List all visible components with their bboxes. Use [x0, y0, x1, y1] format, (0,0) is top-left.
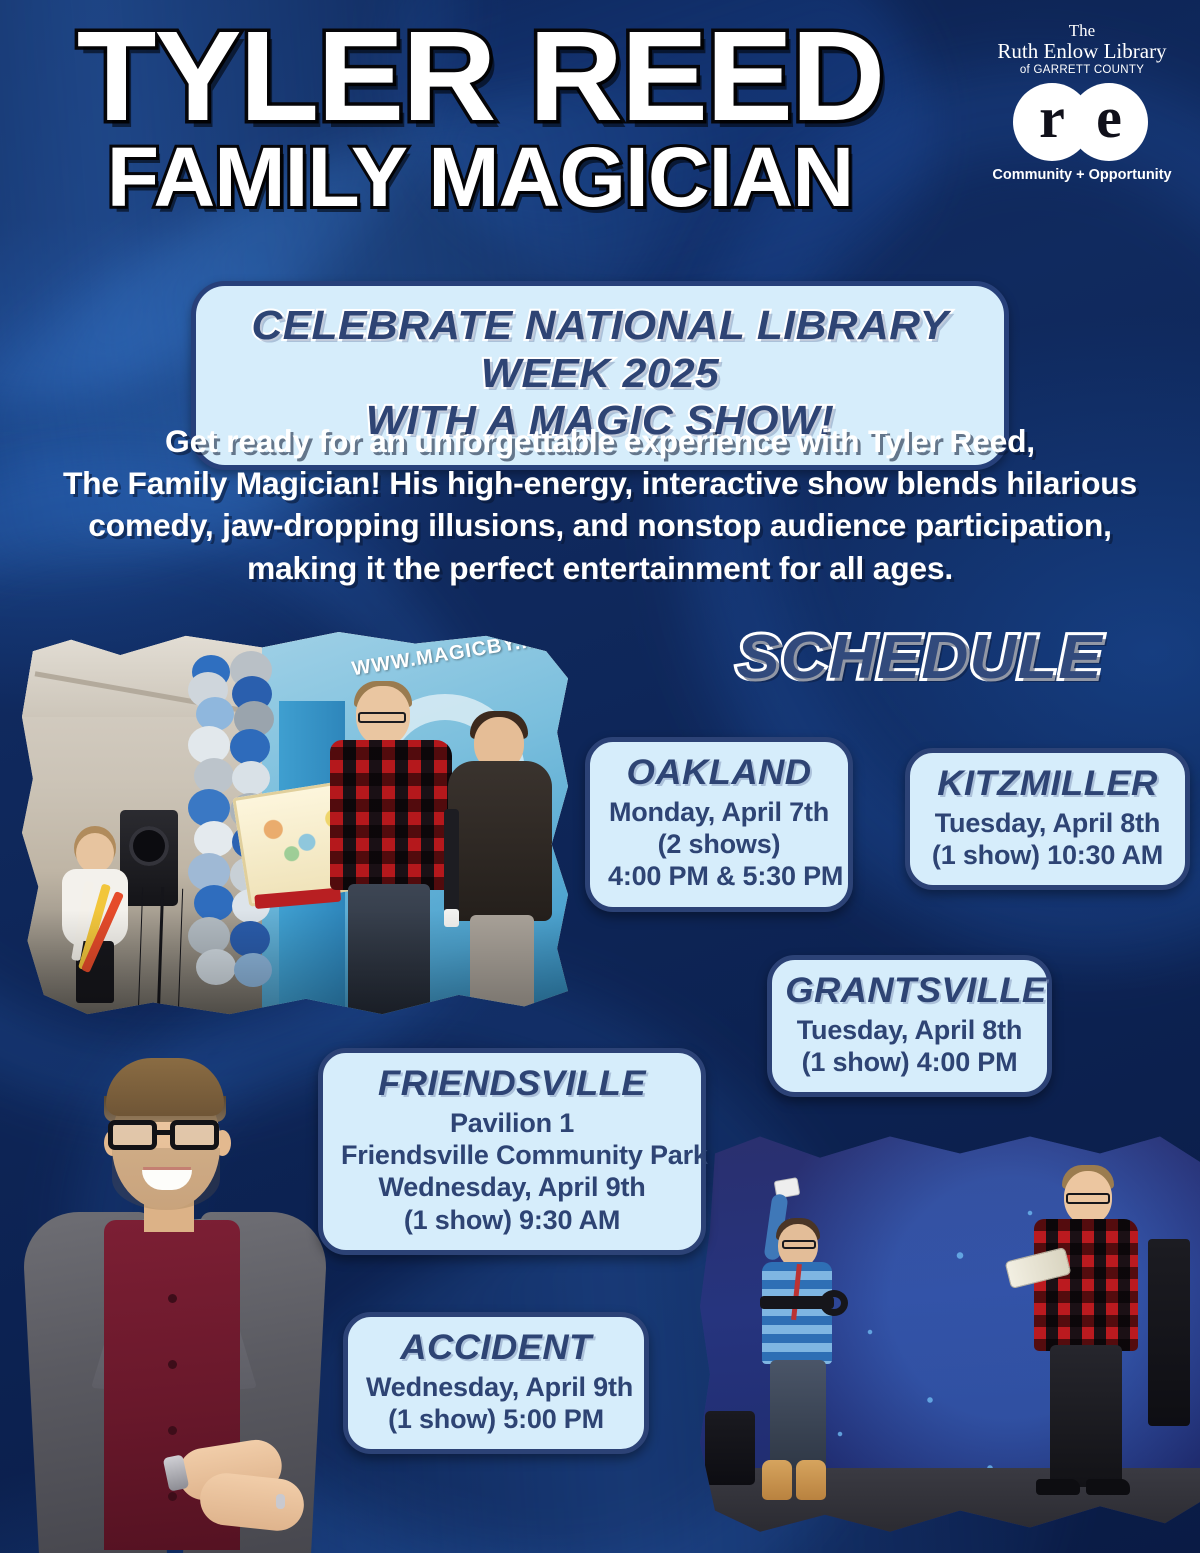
schedule-card-grantsville[interactable]: GRANTSVILLE Tuesday, April 8th (1 show) … — [767, 955, 1052, 1097]
page-subtitle: FAMILY MAGICIAN — [0, 138, 970, 218]
photo-magic-show-colorbook: WWW.MAGICBY... — [22, 632, 568, 1018]
schedule-card-line: (1 show) 5:00 PM — [366, 1403, 626, 1435]
intro-paragraph: Get ready for an unforgettable experienc… — [55, 420, 1146, 589]
schedule-card-friendsville[interactable]: FRIENDSVILLE Pavilion 1 Friendsville Com… — [318, 1048, 706, 1255]
schedule-card-line: (1 show) 4:00 PM — [790, 1046, 1029, 1078]
schedule-card-line: Tuesday, April 8th — [928, 807, 1167, 839]
schedule-card-city: ACCIDENT — [361, 1329, 631, 1368]
schedule-card-line: (2 shows) — [608, 828, 830, 860]
photo2-child-volunteer — [750, 1188, 842, 1511]
photo2-magician-shoe-right — [1086, 1479, 1130, 1495]
intro-line-3: comedy, jaw-dropping illusions, and nons… — [55, 504, 1146, 546]
photo2-kid-glasses-icon — [782, 1240, 816, 1249]
photo2-kid-boot-right — [796, 1460, 826, 1500]
banner-line-1: CELEBRATE NATIONAL LIBRARY WEEK 2025 — [205, 302, 995, 397]
logo-letter-r: r — [1039, 89, 1065, 147]
intro-line-2: The Family Magician! His high-energy, in… — [55, 462, 1146, 504]
photo2-magician — [1030, 1171, 1140, 1520]
portrait-glasses-icon — [108, 1120, 226, 1150]
schedule-card-city: KITZMILLER — [923, 765, 1172, 804]
photo2-magic-ring-prop — [820, 1290, 848, 1316]
portrait-hair — [106, 1058, 224, 1116]
photo2-magician-plaid-shirt — [1034, 1219, 1138, 1351]
logo-tagline: Community + Opportunity — [982, 167, 1182, 183]
schedule-card-line: Wednesday, April 9th — [366, 1371, 626, 1403]
schedule-card-line: 4:00 PM & 5:30 PM — [608, 860, 830, 892]
schedule-card-city: OAKLAND — [604, 754, 835, 793]
schedule-card-line: (1 show) 10:30 AM — [928, 839, 1167, 871]
poster-title-block: TYLER REED FAMILY MAGICIAN — [0, 18, 960, 218]
photo2-prop-case — [705, 1411, 755, 1485]
schedule-card-city: GRANTSVILLE — [785, 972, 1034, 1011]
photo2-magician-shoe-left — [1036, 1479, 1080, 1495]
page-title: TYLER REED — [0, 18, 970, 136]
portrait-ring — [276, 1494, 285, 1509]
logo-county-text: of GARRETT COUNTY — [982, 64, 1182, 76]
logo-library-name: Ruth Enlow Library — [982, 40, 1182, 63]
schedule-card-line: Tuesday, April 8th — [790, 1014, 1029, 1046]
photo2-magician-glasses-icon — [1066, 1193, 1110, 1204]
poster-canvas: TYLER REED FAMILY MAGICIAN The Ruth Enlo… — [0, 0, 1200, 1553]
schedule-card-city: FRIENDSVILLE — [334, 1065, 690, 1104]
portrait-hand-front — [198, 1471, 307, 1534]
schedule-card-accident[interactable]: ACCIDENT Wednesday, April 9th (1 show) 5… — [343, 1312, 649, 1454]
library-logo: The Ruth Enlow Library of GARRETT COUNTY… — [982, 22, 1182, 183]
re-monogram-icon: r e — [982, 83, 1182, 161]
logo-letter-e: e — [1096, 89, 1122, 147]
photo-tyler-portrait — [8, 1052, 338, 1553]
photo-vignette — [22, 632, 568, 1018]
schedule-heading: SCHEDULE — [736, 627, 1102, 689]
photo2-speaker-stand — [1148, 1239, 1190, 1426]
intro-line-1: Get ready for an unforgettable experienc… — [55, 420, 1146, 462]
logo-circle-e: e — [1070, 83, 1148, 161]
photo2-kid-boot-left — [762, 1460, 792, 1500]
schedule-card-kitzmiller[interactable]: KITZMILLER Tuesday, April 8th (1 show) 1… — [905, 748, 1190, 890]
schedule-card-line: (1 show) 9:30 AM — [341, 1204, 683, 1236]
intro-line-4: making it the perfect entertainment for … — [55, 547, 1146, 589]
photo-magic-show-cards — [700, 1128, 1200, 1553]
schedule-card-line: Monday, April 7th — [608, 796, 830, 828]
schedule-card-line: Friendsville Community Park — [341, 1139, 683, 1171]
schedule-card-oakland[interactable]: OAKLAND Monday, April 7th (2 shows) 4:00… — [585, 737, 853, 912]
photo2-kid-pants — [770, 1360, 826, 1468]
logo-the-text: The — [982, 22, 1182, 40]
photo2-magician-pants — [1050, 1345, 1122, 1487]
schedule-card-line: Wednesday, April 9th — [341, 1171, 683, 1203]
schedule-card-line: Pavilion 1 — [341, 1107, 683, 1139]
portrait-clasped-hands — [178, 1444, 326, 1536]
